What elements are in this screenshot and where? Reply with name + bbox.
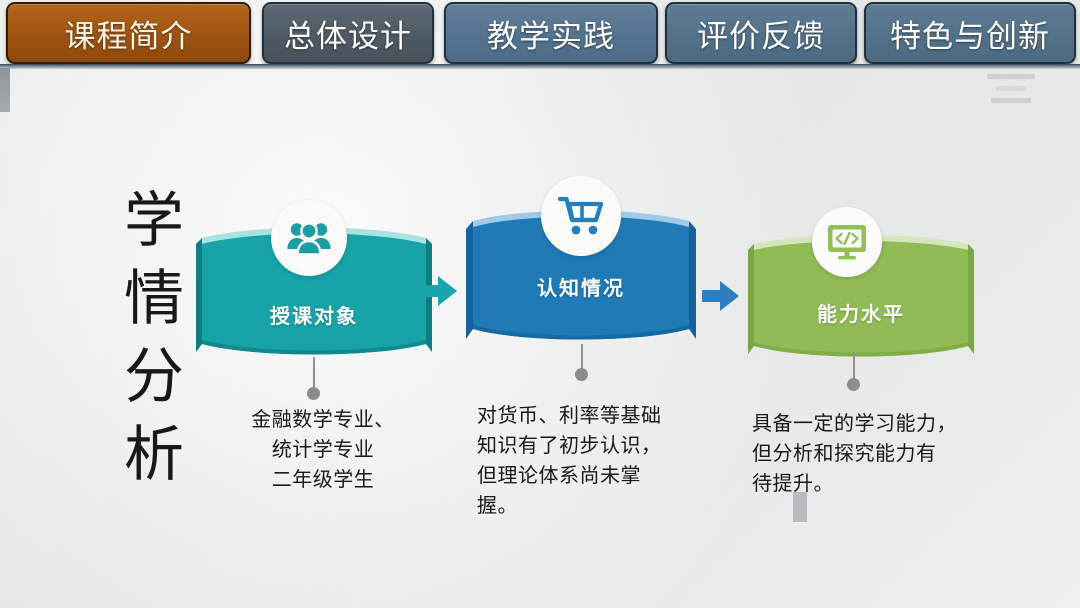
text-cursor-artifact xyxy=(793,492,807,522)
banner-label-ability: 能力水平 xyxy=(748,298,974,327)
tab-label: 教学实践 xyxy=(487,11,615,56)
people-group-icon-badge xyxy=(271,200,347,276)
left-edge-sliver xyxy=(0,68,10,112)
banner-label-audience: 授课对象 xyxy=(196,300,432,329)
code-monitor-icon xyxy=(826,223,868,261)
code-monitor-icon-badge xyxy=(812,207,882,277)
title-char: 析 xyxy=(112,416,196,494)
pin-line xyxy=(853,352,855,380)
tab-teaching-practice[interactable]: 教学实践 xyxy=(444,2,658,64)
title-char: 情 xyxy=(112,260,196,338)
title-char: 学 xyxy=(112,182,196,260)
tab-label: 课程简介 xyxy=(65,11,193,56)
tab-overall-design[interactable]: 总体设计 xyxy=(262,2,434,64)
title-char: 分 xyxy=(112,338,196,416)
pin-line xyxy=(581,344,583,370)
page-title: 学 情 分 析 xyxy=(112,182,196,494)
pin-dot xyxy=(307,387,320,400)
menu-line xyxy=(991,98,1031,103)
hamburger-menu-icon[interactable] xyxy=(987,74,1035,106)
pin-line xyxy=(313,357,315,389)
shopping-cart-icon-badge xyxy=(541,176,621,256)
shopping-cart-icon xyxy=(558,195,604,237)
tab-label: 特色与创新 xyxy=(890,11,1050,56)
pin-dot xyxy=(847,378,860,391)
arrow-right-icon-1 xyxy=(418,273,460,313)
tab-features-innovation[interactable]: 特色与创新 xyxy=(864,2,1076,64)
tab-label: 评价反馈 xyxy=(697,11,825,56)
tab-bar: 课程简介 总体设计 教学实践 评价反馈 特色与创新 xyxy=(0,0,1080,68)
tab-evaluation-feedback[interactable]: 评价反馈 xyxy=(665,2,857,64)
arrow-right-icon-2 xyxy=(700,278,742,318)
menu-line xyxy=(987,74,1035,79)
pin-dot xyxy=(575,368,588,381)
caption-audience: 金融数学专业、 统计学专业 二年级学生 xyxy=(228,404,418,494)
caption-ability: 具备一定的学习能力， 但分析和探究能力有 待提升。 xyxy=(752,408,964,498)
tab-label: 总体设计 xyxy=(284,11,412,56)
menu-line xyxy=(996,86,1026,91)
banner-label-cognition: 认知情况 xyxy=(466,272,696,301)
slide-canvas: 课程简介 总体设计 教学实践 评价反馈 特色与创新 学 情 分 析 xyxy=(0,0,1080,608)
tab-course-intro[interactable]: 课程简介 xyxy=(6,2,251,64)
caption-cognition: 对货币、利率等基础 知识有了初步认识， 但理论体系尚未掌握。 xyxy=(477,400,677,520)
people-group-icon xyxy=(286,220,332,256)
